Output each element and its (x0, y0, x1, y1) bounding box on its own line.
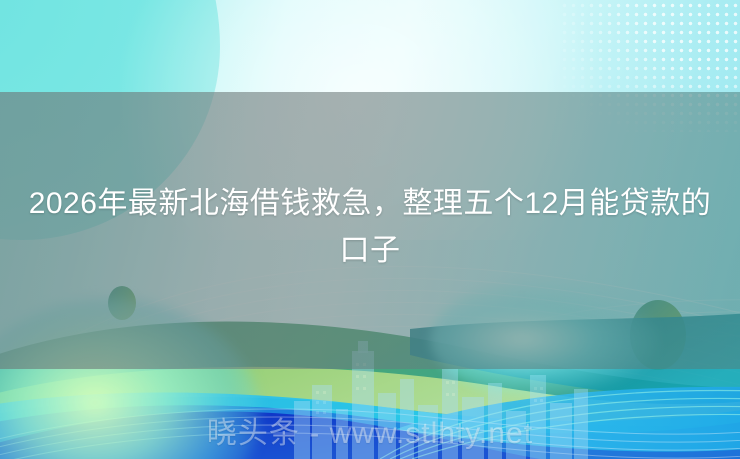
banner-title: 2026年最新北海借钱救急，整理五个12月能贷款的口子 (0, 180, 740, 274)
watermark-text: 晓头条 - www.stlhty.net (0, 415, 740, 453)
promotional-banner-image: 2026年最新北海借钱救急，整理五个12月能贷款的口子 晓头条 - www.st… (0, 0, 740, 459)
